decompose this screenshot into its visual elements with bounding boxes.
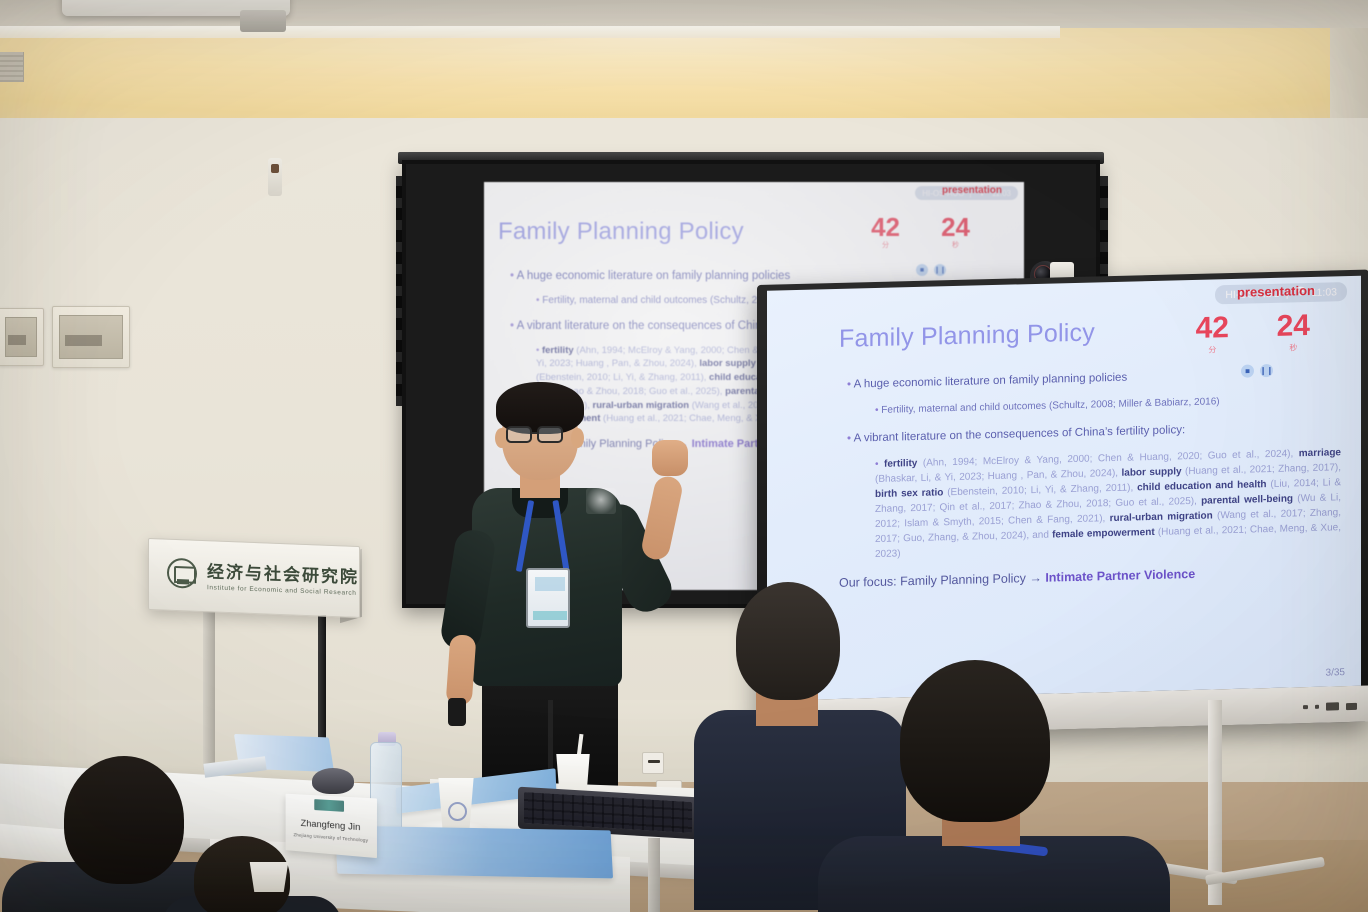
audience-head [900, 660, 1050, 822]
tv-page-indicator: 3/35 [1326, 667, 1345, 678]
screen-stand-right [318, 606, 326, 756]
presentation-tag: presentation [1237, 283, 1315, 300]
cite-birth-sex-ratio: (Ebenstein, 2010; Li, Yi, & Zhang, 2011)… [943, 483, 1137, 499]
topic-labor-supply: labor supply [699, 358, 755, 369]
power-outlet [642, 752, 664, 774]
topic-marriage: marriage [1299, 447, 1341, 459]
topic-fertility: fertility [542, 345, 574, 356]
bullet-glyph: • [536, 295, 540, 306]
eyeglasses-right-lens [537, 426, 563, 443]
presenter-badge [526, 568, 570, 628]
bullet-glyph: • [875, 405, 879, 416]
wall-electrical-panel [52, 306, 130, 368]
university-crest-icon [586, 488, 616, 514]
tv-bullet-3: • A vibrant literature on the consequenc… [847, 419, 1341, 449]
statusbar-time: 11:03 [1312, 286, 1338, 299]
nameplate-logo-icon [314, 799, 344, 812]
presenter [440, 380, 740, 780]
tv-bullet-3-text: A vibrant literature on the consequences… [854, 424, 1186, 444]
timer-minutes-value: 42 [1196, 313, 1229, 344]
wall-electrical-panel [0, 308, 44, 366]
focus-highlight: Intimate Partner Violence [1045, 567, 1195, 585]
audience-head [736, 582, 840, 700]
podium-branding: 经济与社会研究院 Institute for Economic and Soci… [167, 556, 359, 597]
panel-window [5, 317, 37, 357]
timer-minutes: 42 分 [871, 214, 900, 250]
audience-member [840, 660, 1150, 912]
bullet-glyph: • [847, 379, 851, 391]
topic-fertility: fertility [884, 458, 917, 470]
eyeglasses-bridge [532, 432, 539, 434]
presentation-clicker[interactable] [448, 698, 466, 726]
tv-bullet-1-text: A huge economic literature on family pla… [854, 372, 1128, 391]
panel-window [59, 315, 123, 359]
timer-minutes-unit: 分 [1196, 344, 1229, 356]
topic-parental-wellbeing: parental well-being [1201, 494, 1293, 507]
eyeglasses-left-lens [506, 426, 532, 443]
podium-leg [203, 610, 215, 770]
presenter-ear-right [571, 428, 584, 448]
slide-title: Family Planning Policy [839, 318, 1095, 353]
bullet-glyph: • [510, 320, 514, 332]
audience-head [64, 756, 184, 884]
timer-seconds-value: 24 [1277, 311, 1310, 342]
topic-labor-supply: labor supply [1121, 466, 1181, 479]
ceiling-vent [0, 52, 24, 82]
tv-bullet-2: • Fertility, maternal and child outcomes… [875, 391, 1341, 418]
institute-crest-icon [167, 558, 197, 589]
tv-bullet-2-text: Fertility, maternal and child outcomes (… [881, 396, 1219, 416]
bullet-glyph: • [847, 433, 851, 445]
timer-minutes: 42 分 [1196, 313, 1229, 356]
presentation-tag: presentation [942, 185, 1002, 196]
bullet-glyph: • [536, 345, 539, 356]
mouse[interactable] [312, 768, 354, 794]
bullet-glyph: • [875, 459, 879, 470]
cite-marriage: (Bhaskar, Li, & Yi, 2023; Huang , Pan, &… [875, 468, 1121, 485]
slide-title: Family Planning Policy [498, 218, 744, 246]
presenter-right-forearm [640, 474, 685, 562]
presenter-left-forearm [446, 634, 477, 706]
bullet-glyph: • [510, 270, 514, 282]
institute-name-cn: 经济与社会研究院 [207, 557, 359, 588]
timer-seconds: 24 秒 [1277, 311, 1310, 354]
timer-seconds-unit: 秒 [1277, 342, 1310, 354]
ceiling-cove-right-edge [1330, 28, 1368, 124]
tv-focus-line: Our focus: Family Planning Policy → Inti… [839, 561, 1341, 593]
conference-room-scene: HI-OS-AUO | 11:03 presentation Family Pl… [0, 0, 1368, 912]
topic-child-education: child education and health [1137, 479, 1266, 493]
presenter-raised-fist [652, 440, 688, 476]
cite-labor-supply: (Huang et al., 2021; Zhang, 2017), [1182, 462, 1341, 477]
nameplate-name: Zhangfeng Jin [301, 818, 361, 833]
ceiling-cove-light [0, 28, 1345, 120]
wall-sensor [268, 158, 282, 196]
tv-bullet-body: • fertility (Ahn, 1994; McElroy & Yang, … [875, 445, 1341, 562]
led-display-ports [1303, 702, 1357, 711]
table-leg [648, 838, 660, 912]
topic-migration: rural-urban migration [1110, 511, 1213, 525]
timer-minutes-value: 42 [871, 214, 900, 240]
topic-birth-sex-ratio: birth sex ratio [875, 487, 943, 500]
ceiling-cove-inner-strip [0, 26, 1060, 38]
tv-bullet-1: • A huge economic literature on family p… [847, 364, 1341, 394]
topic-female-empowerment: female empowerment [1052, 527, 1155, 541]
timer-seconds: 24 秒 [941, 214, 970, 250]
podium-sign: 经济与社会研究院 Institute for Economic and Soci… [148, 538, 360, 618]
projector-mount [240, 10, 286, 32]
paper-cup [436, 778, 476, 828]
timer-seconds-value: 24 [941, 214, 970, 240]
tv-bullets: • A huge economic literature on family p… [847, 364, 1341, 593]
projected-bullet-1-text: A huge economic literature on family pla… [517, 270, 791, 282]
